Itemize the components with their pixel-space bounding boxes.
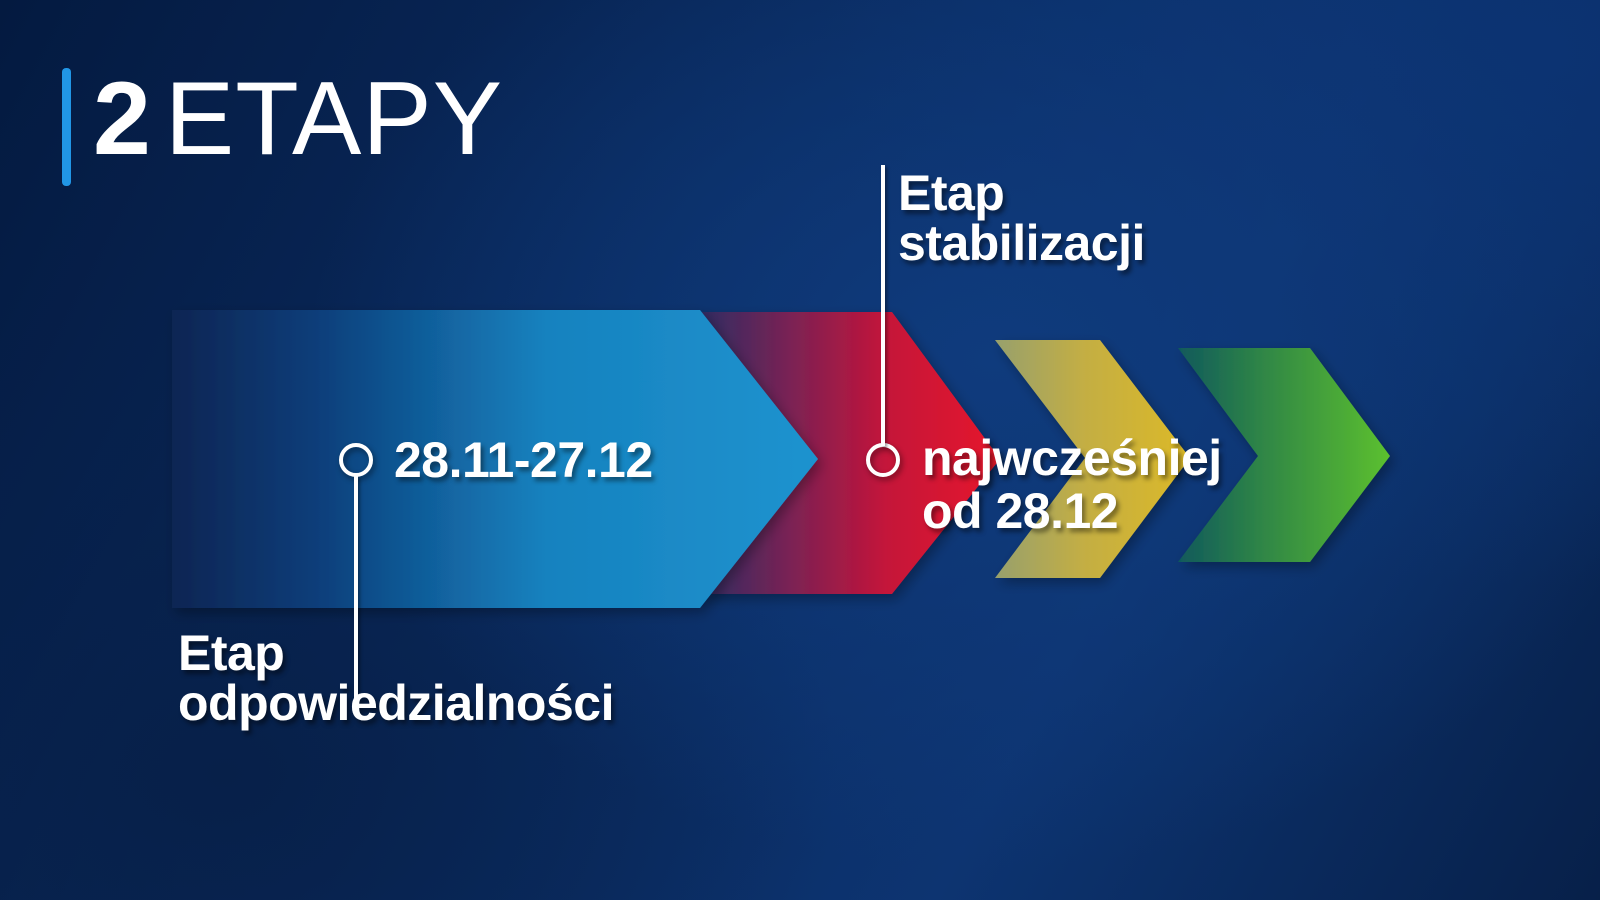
- title-number: 2: [93, 61, 149, 177]
- infographic-canvas: 2ETAPY: [0, 0, 1600, 900]
- title-word: ETAPY: [165, 61, 503, 177]
- stage-2-date-label: najwcześniej od 28.12: [922, 432, 1222, 538]
- stage-1-name-label: Etap odpowiedzialności: [178, 628, 614, 728]
- page-title: 2ETAPY: [62, 60, 503, 186]
- stage-2-name-label: Etap stabilizacji: [898, 168, 1145, 268]
- marker-ring-icon: [339, 443, 373, 477]
- marker-stem-line: [881, 165, 885, 446]
- title-accent-bar: [62, 68, 71, 186]
- stage-1-date-label: 28.11-27.12: [394, 434, 653, 487]
- title-text: 2ETAPY: [93, 60, 503, 178]
- marker-ring-icon: [866, 443, 900, 477]
